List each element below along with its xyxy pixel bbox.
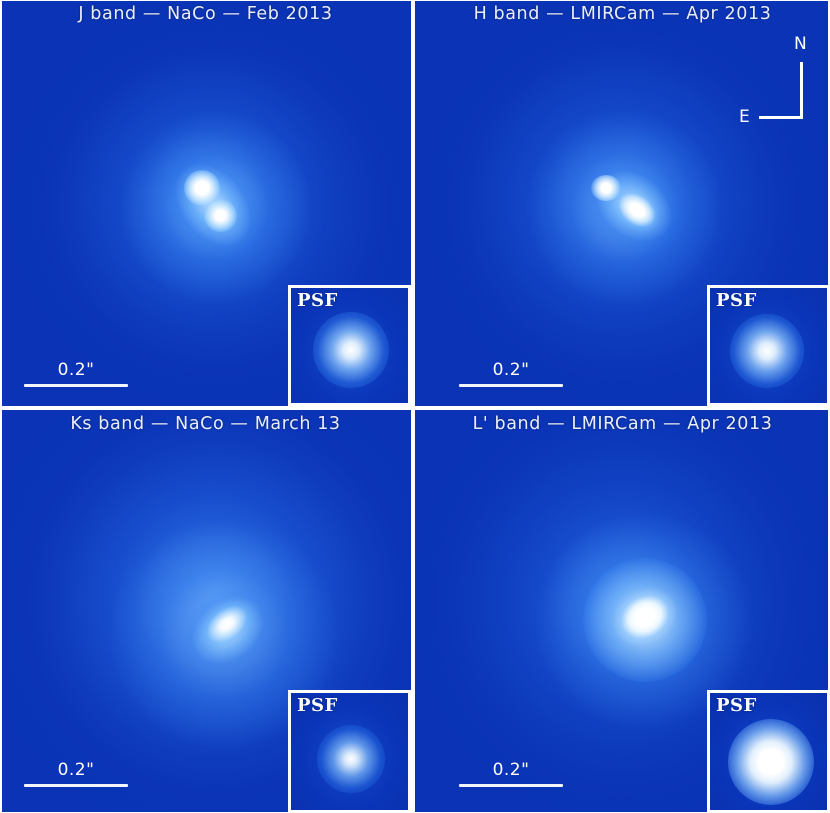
scalebar-label-j: 0.2" [24,362,128,379]
psf-label-ks: PSF [297,695,338,716]
separator-horizontal [0,406,830,410]
panel-title-h: H band — LMIRCam — Apr 2013 [415,4,830,24]
compass-east-line [759,116,803,119]
psf-core-h [730,314,804,388]
panel-lprime-band: L' band — LMIRCam — Apr 2013 0.2" PSF [415,410,830,813]
scalebar-line-lprime [459,784,563,787]
panel-ks-band: Ks band — NaCo — March 13 0.2" PSF [0,410,411,813]
scalebar-label-lprime: 0.2" [459,762,563,779]
scalebar-label-h: 0.2" [459,362,563,379]
scalebar-line-h [459,384,563,387]
border-left [0,0,2,813]
scalebar-line-ks [24,784,128,787]
scalebar-h: 0.2" [459,362,563,387]
psf-core-j [313,312,389,388]
compass-north-label: N [794,36,807,53]
border-top [0,0,830,1]
compass-rose: N E [727,30,823,126]
panel-title-j: J band — NaCo — Feb 2013 [0,4,411,24]
panel-h-band: H band — LMIRCam — Apr 2013 N E 0.2" PSF [415,0,830,406]
scalebar-j: 0.2" [24,362,128,387]
panel-title-ks: Ks band — NaCo — March 13 [0,414,411,434]
scalebar-label-ks: 0.2" [24,762,128,779]
compass-east-label: E [739,109,750,126]
psf-inset-ks: PSF [288,690,411,813]
psf-label-h: PSF [716,290,757,311]
psf-label-j: PSF [297,290,338,311]
scalebar-lprime: 0.2" [459,762,563,787]
panel-j-band: J band — NaCo — Feb 2013 0.2" PSF [0,0,411,406]
psf-core-ks [317,725,385,793]
scalebar-ks: 0.2" [24,762,128,787]
scalebar-line-j [24,384,128,387]
psf-inset-j: PSF [288,285,411,406]
psf-inset-lprime: PSF [707,690,830,813]
compass-north-line [800,62,803,119]
psf-core-lprime [728,719,814,805]
psf-inset-h: PSF [707,285,830,406]
figure-canvas: J band — NaCo — Feb 2013 0.2" PSF H band… [0,0,830,813]
panel-title-lprime: L' band — LMIRCam — Apr 2013 [415,414,830,434]
psf-label-lprime: PSF [716,695,757,716]
